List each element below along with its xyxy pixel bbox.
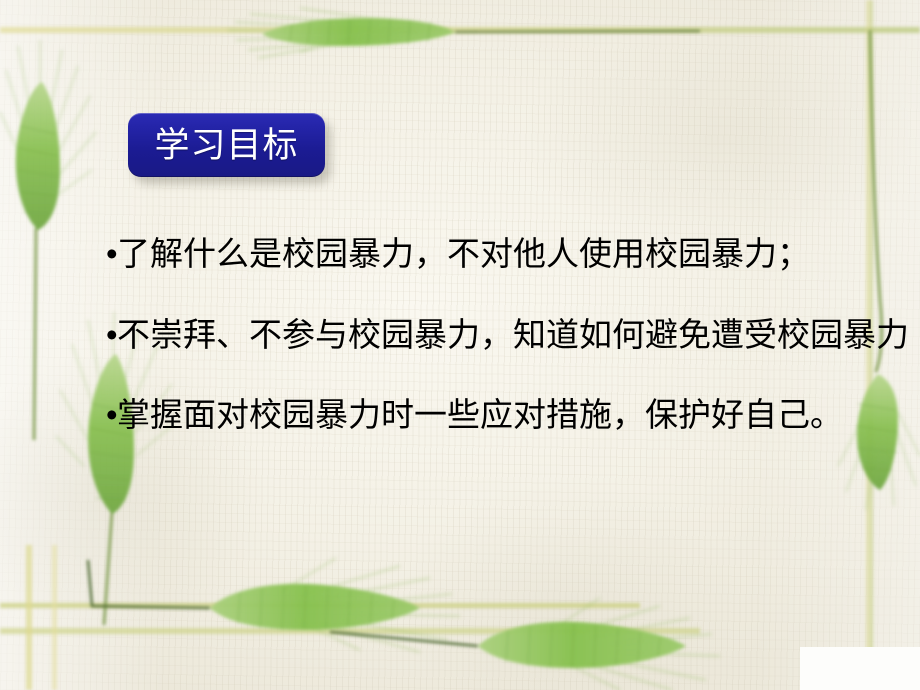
corner-panel [800,647,920,690]
list-item-text: 不崇拜、不参与校园暴力，知道如何避免遭受校园暴力 [117,317,909,353]
title-badge: 学习目标 [128,113,325,177]
title-badge-label: 学习目标 [154,128,298,163]
bullet-icon: • [106,236,117,272]
list-item: • 掌握面对校园暴力时一些应对措施，保护好自己。 [106,397,920,433]
bullet-list: • 了解什么是校园暴力，不对他人使用校园暴力； • 不崇拜、不参与校园暴力，知道… [106,236,920,433]
list-item-text: 了解什么是校园暴力，不对他人使用校园暴力； [117,236,810,272]
list-item: • 不崇拜、不参与校园暴力，知道如何避免遭受校园暴力 [106,317,920,353]
list-item: • 了解什么是校园暴力，不对他人使用校园暴力； [106,236,920,272]
list-item-text: 掌握面对校园暴力时一些应对措施，保护好自己。 [117,397,843,433]
bullet-icon: • [106,397,117,433]
bullet-icon: • [106,317,117,353]
slide-canvas: 学习目标 • 了解什么是校园暴力，不对他人使用校园暴力； • 不崇拜、不参与校园… [0,0,920,690]
